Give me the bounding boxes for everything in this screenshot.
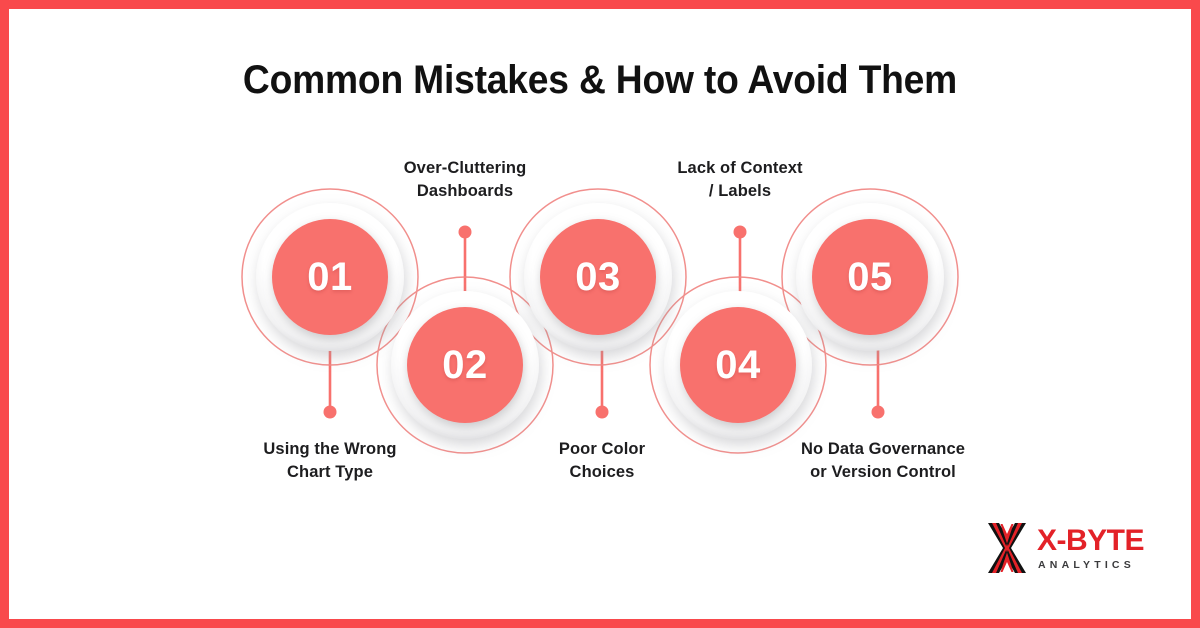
step-label-05-line2: or Version Control [758,461,1008,484]
step-label-03-line2: Choices [477,461,727,484]
step-node-04[interactable] [664,291,812,439]
step-label-04: Lack of Context / Labels [615,157,865,203]
step-label-02: Over-Cluttering Dashboards [340,157,590,203]
step-label-03-line1: Poor Color [477,438,727,461]
x-byte-x-mark-icon [986,522,1028,574]
brand-logo[interactable]: X-BYTE ANALYTICS [986,516,1146,580]
connector-02 [459,226,472,301]
step-label-05-line1: No Data Governance [758,438,1008,461]
step-label-02-line2: Dashboards [340,180,590,203]
step-node-05[interactable] [796,203,944,351]
connector-04 [734,226,747,301]
connector-03 [596,340,609,419]
step-label-02-line1: Over-Cluttering [340,157,590,180]
logo-subtitle: ANALYTICS [1038,560,1144,571]
step-node-02[interactable] [391,291,539,439]
step-label-03: Poor Color Choices [477,438,727,484]
step-node-03[interactable] [524,203,672,351]
step-label-01-line2: Chart Type [205,461,455,484]
infographic-canvas: Common Mistakes & How to Avoid Them [0,0,1200,628]
step-label-01: Using the Wrong Chart Type [205,438,455,484]
step-label-04-line2: / Labels [615,180,865,203]
step-label-05: No Data Governance or Version Control [758,438,1008,484]
logo-wordmark: X-BYTE [1037,526,1144,556]
connector-05 [872,340,885,419]
step-label-01-line1: Using the Wrong [205,438,455,461]
connector-01 [324,340,337,419]
page-title: Common Mistakes & How to Avoid Them [42,58,1158,103]
step-label-04-line1: Lack of Context [615,157,865,180]
step-node-01[interactable] [256,203,404,351]
logo-text-block: X-BYTE ANALYTICS [1037,526,1144,571]
